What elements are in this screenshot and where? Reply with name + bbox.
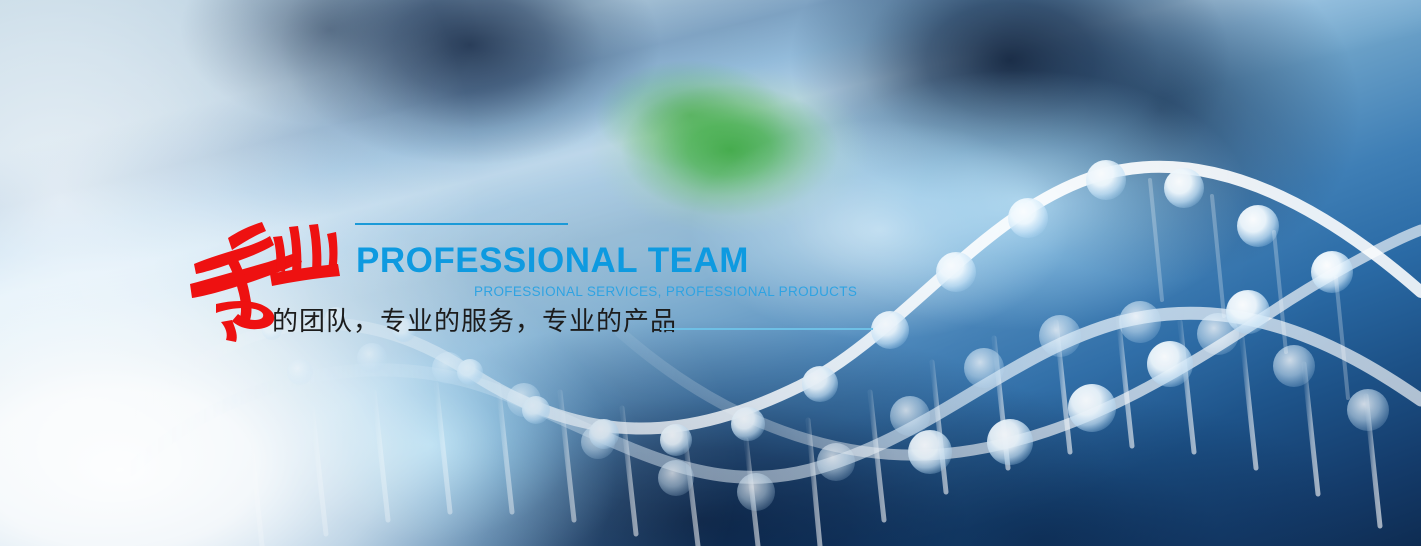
page-subtitle: PROFESSIONAL SERVICES, PROFESSIONAL PROD… (474, 285, 857, 299)
banner-text-block: PROFESSIONAL TEAM PROFESSIONAL SERVICES,… (0, 0, 1421, 546)
bottom-divider-rule (660, 328, 873, 330)
page-title-chinese: 的团队，专业的服务，专业的产品 (272, 305, 677, 338)
professional-team-banner: PROFESSIONAL TEAM PROFESSIONAL SERVICES,… (0, 0, 1421, 546)
page-title: PROFESSIONAL TEAM (356, 243, 749, 278)
top-divider-rule (355, 223, 568, 225)
